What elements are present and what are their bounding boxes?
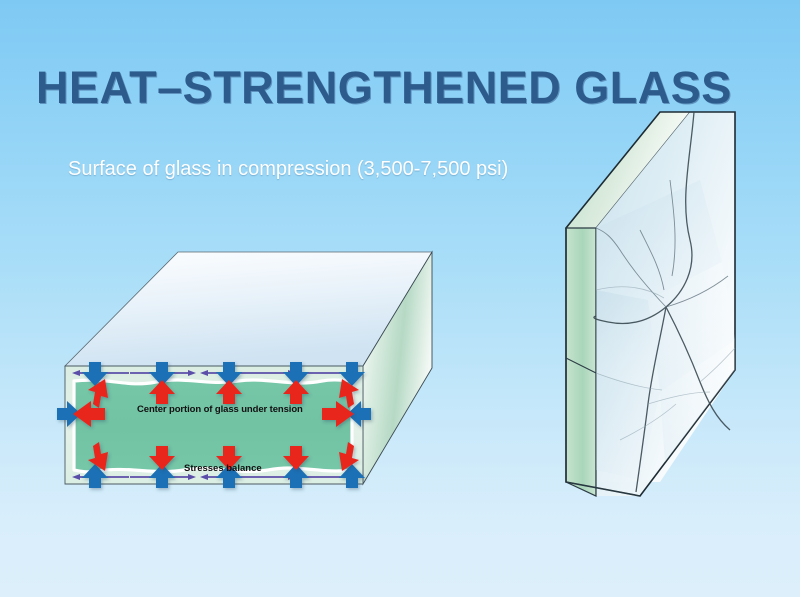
stresses-balance-label: Stresses balance (184, 463, 262, 474)
broken-glass-pane (566, 112, 735, 496)
diagram-svg (0, 0, 800, 597)
tension-core-region (74, 380, 352, 472)
slide-canvas: HEAT–STRENGTHENED GLASS Surface of glass… (0, 0, 800, 597)
core-tension-label: Center portion of glass under tension (137, 404, 303, 415)
glass-slab-3d (57, 252, 432, 488)
